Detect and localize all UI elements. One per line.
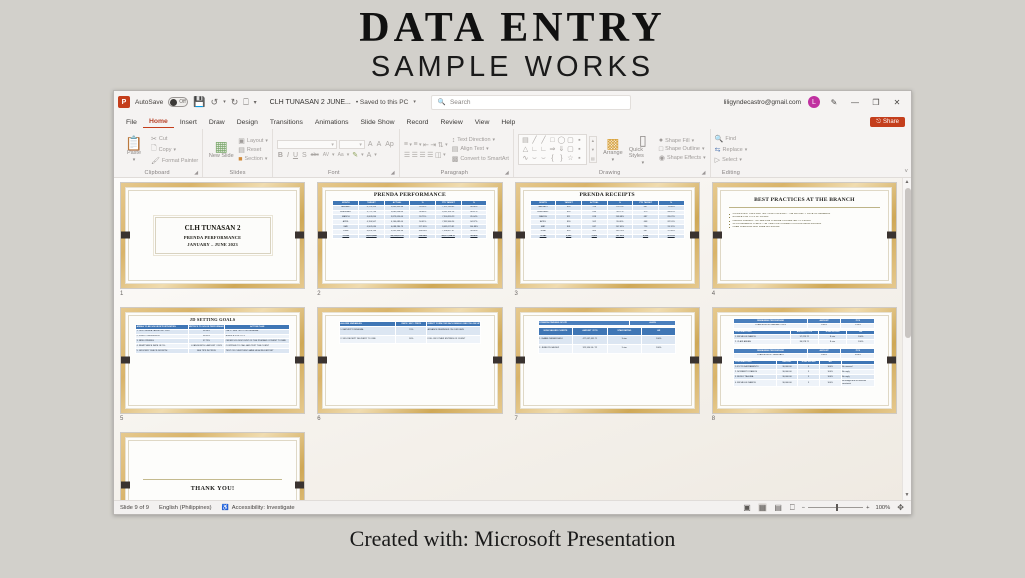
td: 99.06%	[461, 234, 487, 239]
shape-elbow-icon[interactable]: ∟	[531, 146, 538, 153]
td: TEXT OR CLIENT WHO HAVE HIGH RE-DEPOSIT	[225, 348, 290, 353]
table-row: 2. JENELYN VALDEZ325,954.54 / 225 star10…	[538, 344, 676, 353]
group-label-paragraph: Paragraph ◢	[404, 170, 509, 177]
tab-insert[interactable]: Insert	[174, 118, 203, 128]
list-item: BUNDLE FOR CTPL W/ PRNDA	[729, 216, 881, 218]
select-chevron-icon: ▾	[739, 157, 742, 163]
shape-curve-icon[interactable]: ⌣	[532, 155, 537, 162]
slide-thumbnail-3[interactable]: PRENDA RECEIPTS MONTH TARGET ACTUAL % YT…	[515, 182, 700, 289]
font-size-select[interactable]: ▾	[339, 140, 365, 149]
align-text-chevron-icon: ▾	[486, 146, 489, 152]
text-shadow-button[interactable]: S	[301, 152, 308, 159]
tab-file[interactable]: File	[120, 118, 143, 128]
vertical-scrollbar[interactable]: ▲ ▼	[902, 178, 911, 500]
shapes-more-icon[interactable]: ▤	[591, 156, 595, 161]
td: 87.61%	[658, 234, 684, 239]
undo-dropdown-icon[interactable]: ▾	[223, 99, 226, 105]
align-center-icon[interactable]: ☰	[412, 151, 418, 159]
remaining-percentage-table-1: REMAINING PERCENTAGE AMOUNT PCS LOAN MON…	[733, 318, 875, 329]
cursor-icon: ▷	[715, 156, 720, 164]
shrink-font-icon[interactable]: A	[376, 141, 383, 148]
shape-triangle-icon[interactable]: △	[523, 146, 528, 153]
text-direction-button[interactable]: ↕ Text Direction ▾	[452, 137, 509, 144]
title-card: CLH TUNASAN 2 PRENDA PERFORMANCE JANUARY…	[155, 217, 271, 254]
tab-record[interactable]: Record	[401, 118, 435, 128]
numbering-chevron-icon[interactable]: ▾	[419, 142, 422, 148]
clip-right-icon	[493, 232, 502, 239]
slide-cell-3[interactable]: PRENDA RECEIPTS MONTH TARGET ACTUAL % YT…	[515, 182, 700, 297]
increase-indent-icon[interactable]: ⇥	[430, 141, 436, 149]
table-row: LOAN MONTH / FEBRUARY 0.45% 0.86%	[734, 353, 875, 358]
font-family-select[interactable]: ▾	[277, 140, 337, 149]
slide2-title: PRENDA PERFORMANCE	[374, 192, 446, 198]
slide-thumbnail-7[interactable]: COMMON FINDINGS OF KPI ALIGN HIGH VALUED…	[515, 307, 700, 414]
group-label-clipboard: Clipboard ◢	[120, 170, 198, 177]
more-icon[interactable]: ▾	[254, 99, 257, 106]
slide-8-content: REMAINING PERCENTAGE AMOUNT PCS LOAN MON…	[720, 315, 889, 406]
quick-styles-icon: ▯	[639, 133, 647, 147]
divider	[729, 207, 881, 208]
autosave-state: Off	[179, 99, 186, 105]
change-case-chevron-icon[interactable]: ▾	[347, 152, 350, 158]
slide-number-4: 4	[712, 291, 897, 297]
slide3-title: PRENDA RECEIPTS	[579, 192, 634, 198]
clip-right-icon	[690, 232, 699, 239]
tab-transitions[interactable]: Transitions	[264, 118, 309, 128]
contributors-table-2: CONTRIBUTORS AMOUNT STAR RATING AR 1.JOC…	[733, 360, 875, 388]
reading-view-button[interactable]: ▤	[773, 503, 783, 512]
table-row: 2. 98% RECEIPT DELIVERY TO ONE30%FOLLOW …	[339, 335, 480, 343]
convert-smartart-button[interactable]: ▩ Convert to SmartArt	[452, 155, 509, 163]
undo-icon[interactable]: ↺	[211, 97, 219, 108]
td: 100%	[642, 335, 676, 344]
clip-left-icon	[121, 482, 130, 489]
toggle-knob-icon	[170, 99, 177, 106]
shape-oval-icon[interactable]: ◯	[558, 137, 566, 144]
clip-left-icon	[318, 357, 327, 364]
slide1-line3: JANUARY – JUNE 2023	[160, 242, 266, 247]
titlebar-right-cluster: liligyndecastro@gmail.com L ✎ — ❐ ✕	[724, 96, 907, 108]
paste-button[interactable]: 📋 Paste ▾	[120, 136, 148, 163]
zoom-in-button[interactable]: +	[866, 505, 869, 511]
shape-fill-chevron-icon: ▾	[692, 138, 695, 144]
layout-icon: ▣	[238, 137, 245, 145]
shapes-gallery[interactable]: ▤ ╱ ╱ □ ◯ ▢ ▪ △ ∟ ∟ ⇒ ⇓ ▢ ▪ ∿ ⌣ ⌣	[518, 134, 587, 165]
align-text-label: Align Text	[460, 146, 484, 152]
pencil-icon[interactable]: ✎	[827, 98, 841, 107]
clipboard-name: Clipboard	[144, 170, 169, 176]
td: 9 star	[607, 335, 641, 344]
copy-button[interactable]: 🗋 Copy ▾	[151, 144, 198, 155]
shape-blank2-icon[interactable]: ▪	[578, 146, 580, 153]
magnifier-icon: 🔍	[715, 135, 724, 143]
redo-icon[interactable]: ↻	[231, 97, 239, 108]
section-icon: ■	[238, 156, 242, 163]
drawing-dialog-launcher-icon[interactable]: ◢	[702, 170, 706, 176]
language-label[interactable]: English (Philippines)	[159, 505, 212, 511]
restore-button[interactable]: ❐	[869, 98, 883, 107]
slide-sorter-pane[interactable]: CLH TUNASAN 2 PRENDA PERFORMANCE JANUARY…	[114, 178, 911, 500]
slide-thumbnail-5[interactable]: JD SETTING GOALS AREAS TO BE SOLVE/OPPOR…	[120, 307, 305, 414]
td: 1.40%	[841, 323, 875, 328]
search-placeholder: Search	[450, 99, 471, 106]
cut-button[interactable]: ✂ Cut	[151, 135, 198, 143]
columns-icon[interactable]: ◫	[435, 151, 442, 159]
shape-effects-button[interactable]: ◉ Shape Effects ▾	[659, 154, 706, 162]
quick-styles-label: Quick Styles	[629, 148, 657, 160]
strikethrough-button[interactable]: abc	[310, 152, 320, 158]
td: 1. MATURITY RENEWAL	[339, 326, 395, 335]
table-row: 1. MATURITY RENEWAL70%ADVANCE REMINDER O…	[339, 326, 480, 335]
shape-fill-icon: ●	[659, 137, 663, 144]
align-text-button[interactable]: ▤ Align Text ▾	[452, 145, 509, 153]
ribbon-body: 📋 Paste ▾ ✂ Cut 🗋 Copy ▾ 🖌	[114, 128, 911, 178]
slide-cell-2[interactable]: PRENDA PERFORMANCE MONTH TARGET ACTUAL %…	[317, 182, 502, 297]
td: 86,978.71	[790, 340, 818, 345]
avatar[interactable]: L	[808, 96, 820, 108]
paragraph-dialog-launcher-icon[interactable]: ◢	[505, 170, 509, 176]
slide-cell-7[interactable]: COMMON FINDINGS OF KPI ALIGN HIGH VALUED…	[515, 307, 700, 422]
slide-5-content: JD SETTING GOALS AREAS TO BE SOLVE/OPPOR…	[128, 315, 297, 406]
justify-icon[interactable]: ☰	[427, 151, 433, 159]
autosave-label: AutoSave	[135, 99, 163, 106]
td: 5 star	[607, 344, 641, 353]
slide-cell-9[interactable]: THANK YOU! 9	[120, 432, 305, 500]
powerpoint-logo-icon: P	[118, 96, 130, 108]
zoom-out-button[interactable]: −	[802, 505, 805, 511]
thank-you-text: THANK YOU!	[143, 485, 282, 492]
bulleted-list-icon[interactable]: ≡	[404, 141, 408, 148]
thank-you-block: THANK YOU!	[143, 479, 282, 493]
title-bar: P AutoSave Off 💾 ↺ ▾ ↻ ⎕ ▾ CLH TUNASAN 2…	[114, 91, 911, 113]
clip-left-icon	[121, 232, 130, 239]
font-color-chevron-icon[interactable]: ▾	[374, 152, 377, 158]
close-button[interactable]: ✕	[890, 98, 904, 107]
slideshow-button[interactable]: ⎕	[789, 503, 796, 513]
th: AMOUNT / PCS	[573, 327, 607, 335]
layout-button[interactable]: ▣ Layout ▾	[238, 137, 268, 145]
normal-view-button[interactable]: ▣	[742, 503, 752, 512]
slide-thumbnail-9[interactable]: THANK YOU!	[120, 432, 305, 500]
clear-formatting-icon[interactable]: Ap	[384, 141, 395, 148]
tab-home[interactable]: Home	[143, 117, 174, 128]
slide-cell-6[interactable]: ALLOWS VARIABLES RATE / SEC / PRICE DIRE…	[317, 307, 502, 422]
td: 101.23%	[607, 234, 633, 239]
scroll-up-icon[interactable]: ▲	[903, 178, 911, 187]
slide-cell-5[interactable]: JD SETTING GOALS AREAS TO BE SOLVE/OPPOR…	[120, 307, 305, 422]
saved-chevron-icon[interactable]: ▾	[413, 99, 416, 105]
format-painter-button[interactable]: 🖌 Format Painter	[151, 157, 198, 165]
arrange-button[interactable]: ▩ Arrange ▾	[599, 136, 627, 163]
slide-count-label[interactable]: Slide 9 of 9	[120, 505, 149, 511]
reset-button[interactable]: ▤ Reset	[238, 146, 268, 154]
clip-left-icon	[713, 232, 722, 239]
slide-9-content: THANK YOU!	[128, 440, 297, 500]
layout-chevron-icon: ▾	[265, 138, 268, 144]
scrollbar-thumb[interactable]	[905, 188, 911, 338]
new-slide-button[interactable]: ▦ New Slide	[207, 139, 235, 160]
ribbon-tabs: File Home Insert Draw Design Transitions…	[114, 113, 911, 128]
table-row: 5. GROCERY CHECK GROWTHSEE TIPS IN PRICE…	[136, 348, 290, 353]
save-icon[interactable]: 💾	[193, 97, 205, 108]
shape-outline-button[interactable]: □ Shape Outline ▾	[659, 146, 706, 153]
td: 100.64%	[410, 234, 436, 239]
table-row: COMMON FINDINGS OF KPI ALIGN	[538, 320, 676, 325]
minimize-button[interactable]: —	[848, 98, 862, 107]
underline-button[interactable]: U	[292, 152, 299, 159]
tab-help[interactable]: Help	[495, 118, 521, 128]
shape-outline-icon: □	[659, 146, 663, 153]
shape-star-icon[interactable]: ☆	[567, 155, 573, 162]
account-email[interactable]: liligyndecastro@gmail.com	[724, 99, 801, 106]
scissors-icon: ✂	[151, 135, 157, 143]
slide-3-content: PRENDA RECEIPTS MONTH TARGET ACTUAL % YT…	[523, 190, 692, 281]
slide-sorter-button[interactable]: ▦	[758, 503, 768, 512]
slide-number-5: 5	[120, 416, 305, 422]
slide-thumbnail-6[interactable]: ALLOWS VARIABLES RATE / SEC / PRICE DIRE…	[317, 307, 502, 414]
zoom-slider[interactable]: − +	[802, 505, 870, 511]
goals-table: AREAS TO BE SOLVE/OPPORTUNITIES METRICS …	[135, 324, 290, 354]
slide-thumbnail-4[interactable]: BEST PRACTICES AT THE BRANCH CONSISTENT …	[712, 182, 897, 289]
font-row-top: ▾ ▾ A A Ap	[277, 140, 395, 149]
shape-fill-label: Shape Fill	[665, 138, 689, 144]
slide-thumbnail-2[interactable]: PRENDA PERFORMANCE MONTH TARGET ACTUAL %…	[317, 182, 502, 289]
shapes-gallery-scroll[interactable]: ▲ ▼ ▤	[589, 136, 597, 163]
clip-right-icon	[295, 482, 304, 489]
td: 0.45%	[807, 323, 841, 328]
saved-status[interactable]: • Saved to this PC	[356, 99, 409, 106]
paragraph-row-2: ☰ ☰ ☰ ☰ ◫▾	[404, 151, 448, 159]
drawing-name: Drawing	[599, 170, 621, 176]
group-label-drawing: Drawing ◢	[518, 170, 706, 177]
document-title[interactable]: CLH TUNASAN 2 JUNE...	[270, 99, 351, 106]
statusbar-right-cluster: ▣ ▦ ▤ ⎕ − + 100% ✥	[742, 503, 905, 513]
clip-right-icon	[493, 357, 502, 364]
paste-icon: 📋	[125, 136, 142, 150]
list-item: FREE CLEANING AND FREE APPRAISAL	[729, 226, 881, 228]
share-button[interactable]: ⎋ Share	[870, 117, 905, 127]
slide-number-3: 3	[515, 291, 700, 297]
tab-view[interactable]: View	[469, 118, 496, 128]
td: FOLLOW OTHER ENTRIES OF CLIENT	[427, 335, 481, 343]
slide-cell-8[interactable]: REMAINING PERCENTAGE AMOUNT PCS LOAN MON…	[712, 307, 897, 422]
td: 100%	[847, 340, 875, 345]
autosave-toggle[interactable]: Off	[168, 97, 188, 107]
paragraph-name: Paragraph	[441, 170, 469, 176]
remaining-percentage-table-2: REMAINING PERCENTAGE AMOUNT PCS LOAN MON…	[733, 348, 875, 359]
contributors-table-1: CONTRIBUTORS AMOUNT / PCS STAR RATING AR…	[733, 330, 875, 345]
td: 100%	[819, 379, 841, 386]
bullets-chevron-icon[interactable]: ▾	[409, 142, 412, 148]
slide-thumbnail-8[interactable]: REMAINING PERCENTAGE AMOUNT PCS LOAN MON…	[712, 307, 897, 414]
table-row: 1. ISABELITA MERCADO477,097,451.719 star…	[538, 335, 676, 344]
td: 2. JENELYN VALDEZ	[538, 344, 572, 353]
td: COMMON FINDINGS OF KPI	[538, 320, 629, 325]
decrease-indent-icon[interactable]: ⇤	[423, 141, 429, 149]
reset-label: Reset	[247, 147, 261, 153]
td: 0.86%	[841, 353, 875, 358]
arrange-label: Arrange	[603, 151, 623, 157]
replace-chevron-icon: ▾	[745, 147, 748, 153]
font-color-button[interactable]: A	[366, 152, 373, 159]
shape-brace-right-icon[interactable]: }	[560, 155, 562, 162]
numbered-list-icon[interactable]: ≡	[413, 141, 417, 148]
section-chevron-icon: ▾	[265, 156, 268, 162]
replace-button[interactable]: ⇆ Replace ▾	[715, 146, 748, 154]
slides-grid: CLH TUNASAN 2 PRENDA PERFORMANCE JANUARY…	[120, 182, 897, 500]
ribbon-group-drawing: ▤ ╱ ╱ □ ◯ ▢ ▪ △ ∟ ∟ ⇒ ⇓ ▢ ▪ ∿ ⌣ ⌣	[513, 129, 710, 177]
clip-left-icon	[318, 232, 327, 239]
accessibility-label: Accessibility: Investigate	[232, 505, 295, 511]
columns-chevron-icon[interactable]: ▾	[443, 152, 446, 158]
shape-effects-label: Shape Effects	[667, 155, 701, 161]
shape-down-arrow-icon[interactable]: ⇓	[558, 146, 564, 153]
ribbon-group-font: ▾ ▾ A A Ap B I U S abc AV ▾ Aa ▾	[272, 129, 399, 177]
smartart-icon: ▩	[452, 155, 459, 163]
align-right-icon[interactable]: ☰	[419, 151, 425, 159]
highlight-chevron-icon[interactable]: ▾	[361, 152, 364, 158]
slide-1-content: CLH TUNASAN 2 PRENDA PERFORMANCE JANUARY…	[128, 190, 297, 281]
td: 8 star	[818, 340, 846, 345]
arrange-icon: ▩	[606, 136, 619, 150]
text-highlight-color-button[interactable]: ✎	[351, 151, 359, 159]
clipboard-dialog-launcher-icon[interactable]: ◢	[194, 170, 198, 176]
list-item: PADALA PRENDA - NO SERVICE CHARGE CONVER…	[729, 220, 881, 222]
accessibility-icon: ♿	[222, 505, 229, 511]
shape-rectangle-icon[interactable]: □	[550, 137, 554, 144]
table-row: 2. CLAIR ABUAN86,978.718 star100%	[734, 340, 875, 345]
group-label-font: Font ◢	[277, 170, 395, 177]
td: LOAN MONTH / FEBRUARY	[734, 353, 807, 358]
powerpoint-window: P AutoSave Off 💾 ↺ ▾ ↻ ⎕ ▾ CLH TUNASAN 2…	[113, 90, 912, 515]
char-spacing-chevron-icon[interactable]: ▾	[332, 152, 335, 158]
poster-footer: Created with: Microsoft Presentation	[0, 526, 1025, 552]
ribbon-group-paragraph: ≡▾ ≡▾ ⇤ ⇥ ⇅▾ ☰ ☰ ☰ ☰ ◫▾	[399, 129, 513, 177]
reset-icon: ▤	[238, 146, 245, 154]
paste-chevron-icon: ▾	[133, 158, 136, 163]
table-row: 4. MICHELLE RAMOS30,000.003100%No budget…	[734, 379, 875, 386]
accessibility-status[interactable]: ♿ Accessibility: Investigate	[222, 505, 295, 511]
clip-left-icon	[516, 232, 525, 239]
zoom-level-label[interactable]: 100%	[875, 505, 890, 511]
section-label: Section	[245, 156, 263, 162]
td: 5,000	[633, 234, 659, 239]
line-spacing-chevron-icon[interactable]: ▾	[445, 142, 448, 148]
shape-right-arrow-icon[interactable]: ⇒	[549, 146, 555, 153]
collapse-ribbon-icon[interactable]: ˅	[904, 169, 908, 175]
quick-styles-button[interactable]: ▯ Quick Styles ▾	[629, 133, 657, 166]
shape-line-icon[interactable]: ╱	[532, 137, 536, 144]
td: 0.45%	[807, 353, 841, 358]
shape-arrow-icon[interactable]: ╱	[541, 137, 545, 144]
slide-2-content: PRENDA PERFORMANCE MONTH TARGET ACTUAL %…	[325, 190, 494, 281]
shape-brace-left-icon[interactable]: {	[551, 155, 553, 162]
tab-animations[interactable]: Animations	[309, 118, 355, 128]
ribbon-group-editing: 🔍 Find ⇆ Replace ▾ ▷ Select ▾ Editing	[710, 129, 752, 177]
shapes-scroll-up-icon[interactable]: ▲	[591, 138, 595, 143]
zoom-track[interactable]	[808, 507, 863, 508]
td: 477,097,451.71	[573, 335, 607, 344]
align-left-icon[interactable]: ☰	[404, 151, 410, 159]
bold-button[interactable]: B	[277, 152, 284, 159]
slide-cell-4[interactable]: BEST PRACTICES AT THE BRANCH CONSISTENT …	[712, 182, 897, 297]
tab-slide-show[interactable]: Slide Show	[355, 118, 401, 128]
zoom-knob[interactable]	[836, 504, 838, 511]
convert-smartart-label: Convert to SmartArt	[460, 156, 509, 162]
slide5-title: JD SETTING GOALS	[190, 317, 236, 322]
font-dialog-launcher-icon[interactable]: ◢	[391, 170, 395, 176]
shape-arc-icon[interactable]: ⌣	[541, 155, 546, 162]
replace-label: Replace	[723, 147, 743, 153]
search-input[interactable]: 🔍 Search	[431, 95, 631, 110]
text-direction-label: Text Direction	[457, 137, 490, 143]
paragraph-row-1: ≡▾ ≡▾ ⇤ ⇥ ⇅▾	[404, 141, 448, 149]
slide1-line2: PRENDA PERFORMANCE	[160, 235, 266, 240]
slide-cell-1[interactable]: CLH TUNASAN 2 PRENDA PERFORMANCE JANUARY…	[120, 182, 305, 297]
shape-connector-icon[interactable]: ∟	[540, 146, 547, 153]
tab-design[interactable]: Design	[231, 118, 264, 128]
character-spacing-button[interactable]: AV	[322, 152, 330, 158]
ribbon-group-slides: ▦ New Slide ▣ Layout ▾ ▤ Reset ■	[202, 129, 272, 177]
group-label-slides: Slides	[207, 170, 268, 177]
search-icon: 🔍	[438, 98, 446, 106]
format-painter-label: Format Painter	[162, 158, 198, 164]
present-icon[interactable]: ⎕	[243, 97, 248, 108]
table-total-row: TOTAL5,0055,005101.23%5,00087.61%	[530, 234, 684, 239]
td: 70%	[396, 326, 427, 335]
change-case-button[interactable]: Aa	[337, 152, 345, 158]
shape-outline-label: Shape Outline	[665, 146, 700, 152]
shape-rounded-rect-icon[interactable]: ▢	[567, 137, 574, 144]
select-label: Select	[722, 157, 737, 163]
shape-callout-icon[interactable]: ▢	[567, 146, 574, 153]
shape-blank3-icon[interactable]: ▪	[578, 155, 580, 162]
italic-button[interactable]: I	[286, 152, 290, 159]
slide-7-content: COMMON FINDINGS OF KPI ALIGN HIGH VALUED…	[523, 315, 692, 406]
table-header-row: HIGH VALUED CLIENTS AMOUNT / PCS STAR RA…	[538, 327, 676, 335]
table-total-row: TOTAL24,574,64824,129,411.35100.64%43,87…	[333, 234, 487, 239]
shape-fill-button[interactable]: ● Shape Fill ▾	[659, 137, 706, 144]
td: 5,005	[581, 234, 607, 239]
tab-review[interactable]: Review	[434, 118, 468, 128]
slide-thumbnail-1[interactable]: CLH TUNASAN 2 PRENDA PERFORMANCE JANUARY…	[120, 182, 305, 289]
line-spacing-icon[interactable]: ⇅	[438, 141, 444, 149]
select-button[interactable]: ▷ Select ▾	[715, 156, 748, 164]
shape-effects-icon: ◉	[659, 154, 665, 162]
fit-to-window-button[interactable]: ✥	[896, 503, 905, 512]
td: 2. 98% RECEIPT DELIVERY TO ONE	[339, 335, 395, 343]
section-button[interactable]: ■ Section ▾	[238, 156, 268, 163]
clip-right-icon	[887, 232, 896, 239]
slide-number-8: 8	[712, 416, 897, 422]
shape-blank-icon[interactable]: ▪	[578, 137, 580, 144]
shape-textbox-icon[interactable]: ▤	[522, 137, 529, 144]
shape-freeform-icon[interactable]: ∿	[522, 155, 528, 162]
text-direction-chevron-icon: ▾	[493, 137, 496, 143]
find-button[interactable]: 🔍 Find	[715, 135, 748, 143]
shapes-scroll-down-icon[interactable]: ▼	[591, 147, 595, 152]
td: LOAN MONTHS JANUARY 2023	[734, 323, 807, 328]
tab-draw[interactable]: Draw	[203, 118, 231, 128]
clip-right-icon	[690, 357, 699, 364]
table-row: LOAN MONTHS JANUARY 2023 0.45% 1.40%	[734, 323, 875, 328]
grow-font-icon[interactable]: A	[367, 141, 374, 148]
scroll-down-icon[interactable]: ▼	[903, 491, 911, 500]
poster-header: DATA ENTRY SAMPLE WORKS	[0, 0, 1025, 84]
td: 5. GROCERY CHECK GROWTH	[136, 348, 188, 353]
slide-number-1: 1	[120, 291, 305, 297]
font-row-bottom: B I U S abc AV ▾ Aa ▾ ✎ ▾ A ▾	[277, 151, 395, 159]
